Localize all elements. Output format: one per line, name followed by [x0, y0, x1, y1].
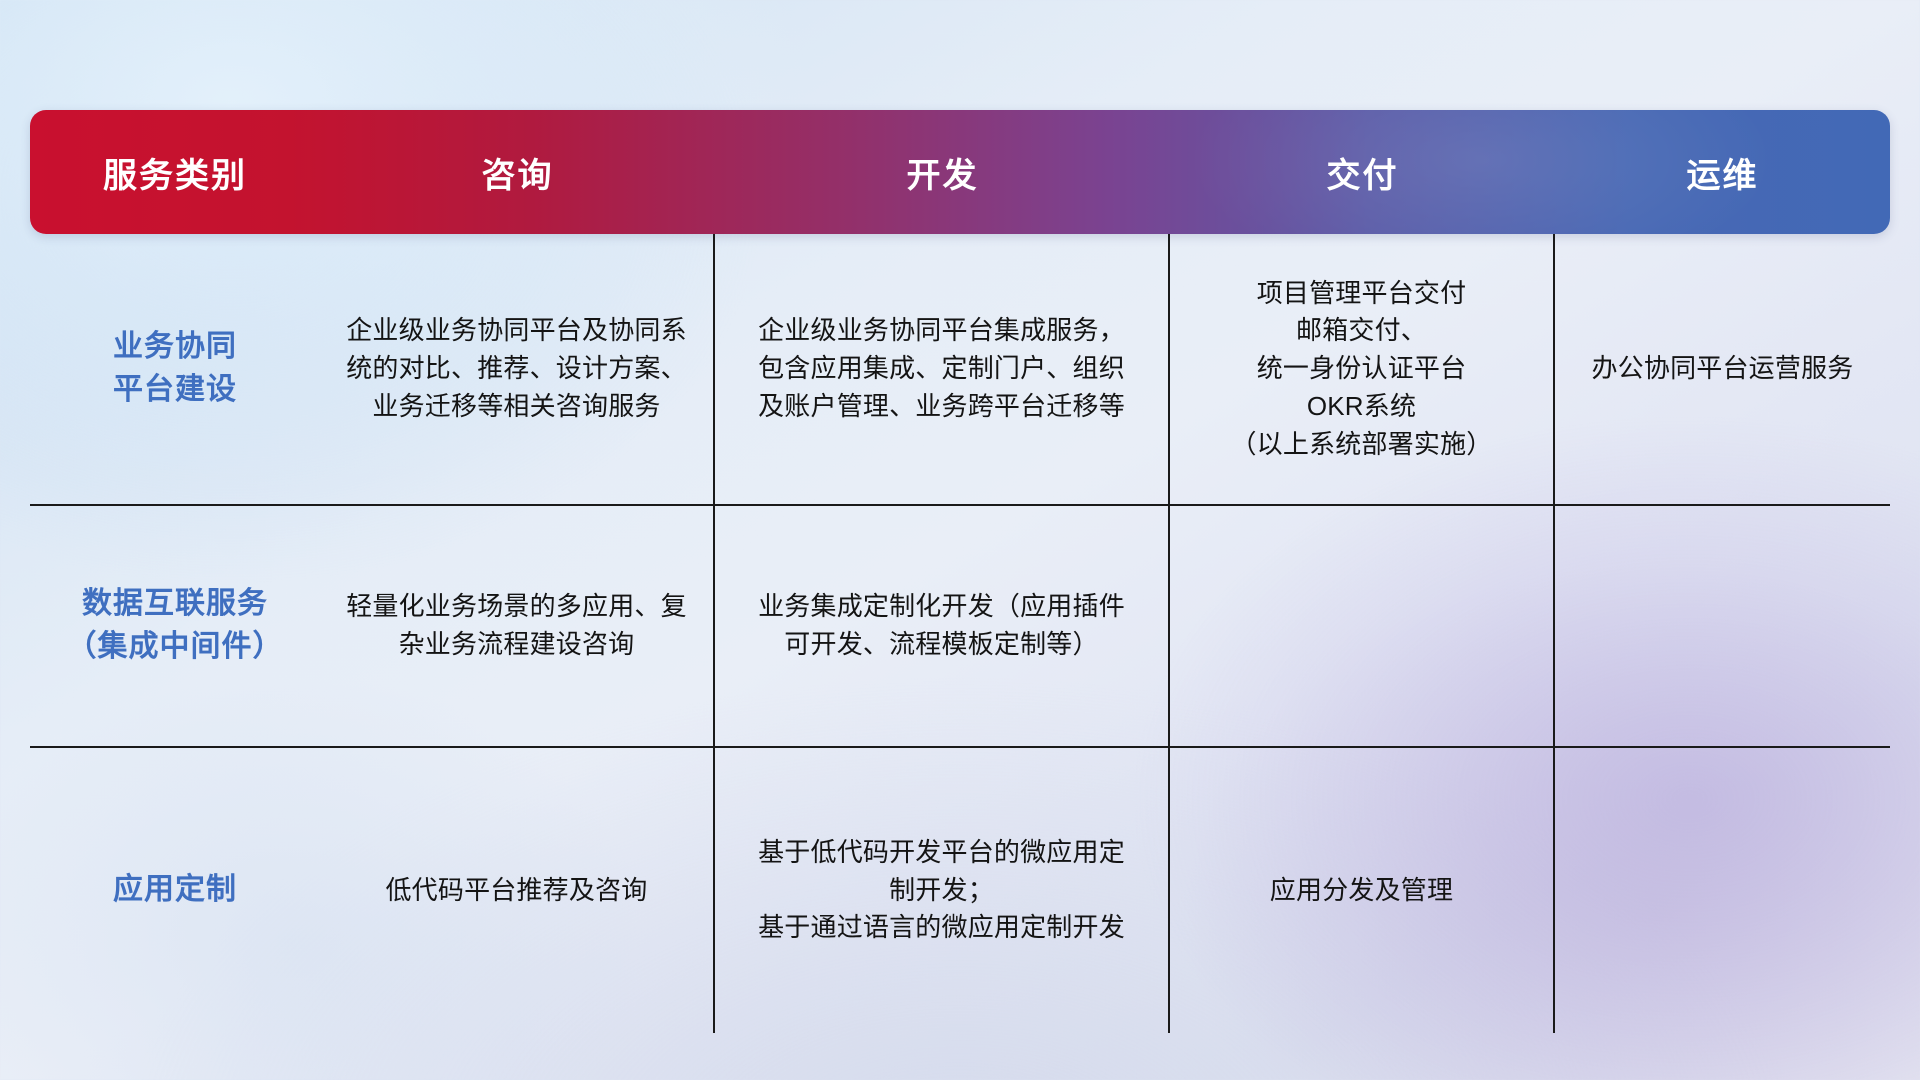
cell-text: 轻量化业务场景的多应用、复 杂业务流程建设咨询	[346, 588, 687, 663]
cell-text: 办公协同平台运营服务	[1591, 350, 1853, 388]
cell-category: 业务协同 平台建设	[30, 234, 320, 504]
cell-consulting: 企业级业务协同平台及协同系 统的对比、推荐、设计方案、 业务迁移等相关咨询服务	[320, 234, 715, 504]
cell-category: 数据互联服务 （集成中间件）	[30, 506, 320, 746]
cell-text: 应用分发及管理	[1270, 872, 1453, 910]
cell-text: 基于低代码开发平台的微应用定 制开发； 基于通过语言的微应用定制开发	[758, 834, 1125, 947]
table-body: 业务协同 平台建设 企业级业务协同平台及协同系 统的对比、推荐、设计方案、 业务…	[30, 234, 1890, 1033]
cell-category: 应用定制	[30, 748, 320, 1033]
cell-development: 企业级业务协同平台集成服务， 包含应用集成、定制门户、组织 及账户管理、业务跨平…	[715, 234, 1170, 504]
cell-operations: 办公协同平台运营服务	[1555, 234, 1890, 504]
column-header-consulting: 咨询	[320, 148, 715, 197]
cell-consulting: 低代码平台推荐及咨询	[320, 748, 715, 1033]
cell-text: 项目管理平台交付 邮箱交付、 统一身份认证平台 OKR系统 （以上系统部署实施）	[1230, 275, 1492, 463]
column-header-category: 服务类别	[30, 148, 320, 197]
category-label: 业务协同 平台建设	[113, 326, 237, 411]
service-matrix-table: 服务类别 咨询 开发 交付 运维 业务协同 平台建设 企业级业务协同平台及协同系…	[30, 110, 1890, 950]
cell-text: 企业级业务协同平台集成服务， 包含应用集成、定制门户、组织 及账户管理、业务跨平…	[758, 312, 1125, 425]
cell-operations	[1555, 506, 1890, 746]
category-label: 数据互联服务 （集成中间件）	[67, 583, 284, 668]
cell-development: 基于低代码开发平台的微应用定 制开发； 基于通过语言的微应用定制开发	[715, 748, 1170, 1033]
cell-text: 低代码平台推荐及咨询	[385, 872, 647, 910]
cell-delivery: 项目管理平台交付 邮箱交付、 统一身份认证平台 OKR系统 （以上系统部署实施）	[1170, 234, 1555, 504]
cell-delivery: 应用分发及管理	[1170, 748, 1555, 1033]
table-row: 业务协同 平台建设 企业级业务协同平台及协同系 统的对比、推荐、设计方案、 业务…	[30, 234, 1890, 506]
table-row: 应用定制 低代码平台推荐及咨询 基于低代码开发平台的微应用定 制开发； 基于通过…	[30, 748, 1890, 1033]
column-header-delivery: 交付	[1170, 148, 1555, 197]
cell-consulting: 轻量化业务场景的多应用、复 杂业务流程建设咨询	[320, 506, 715, 746]
category-label: 应用定制	[113, 869, 237, 912]
table-header-row: 服务类别 咨询 开发 交付 运维	[30, 110, 1890, 234]
column-header-development: 开发	[715, 148, 1170, 197]
cell-development: 业务集成定制化开发（应用插件 可开发、流程模板定制等）	[715, 506, 1170, 746]
cell-operations	[1555, 748, 1890, 1033]
cell-text: 企业级业务协同平台及协同系 统的对比、推荐、设计方案、 业务迁移等相关咨询服务	[346, 312, 687, 425]
column-header-operations: 运维	[1555, 148, 1890, 197]
table-row: 数据互联服务 （集成中间件） 轻量化业务场景的多应用、复 杂业务流程建设咨询 业…	[30, 506, 1890, 748]
cell-text: 业务集成定制化开发（应用插件 可开发、流程模板定制等）	[758, 588, 1125, 663]
cell-delivery	[1170, 506, 1555, 746]
slide-canvas: 服务类别 咨询 开发 交付 运维 业务协同 平台建设 企业级业务协同平台及协同系…	[0, 0, 1920, 1080]
